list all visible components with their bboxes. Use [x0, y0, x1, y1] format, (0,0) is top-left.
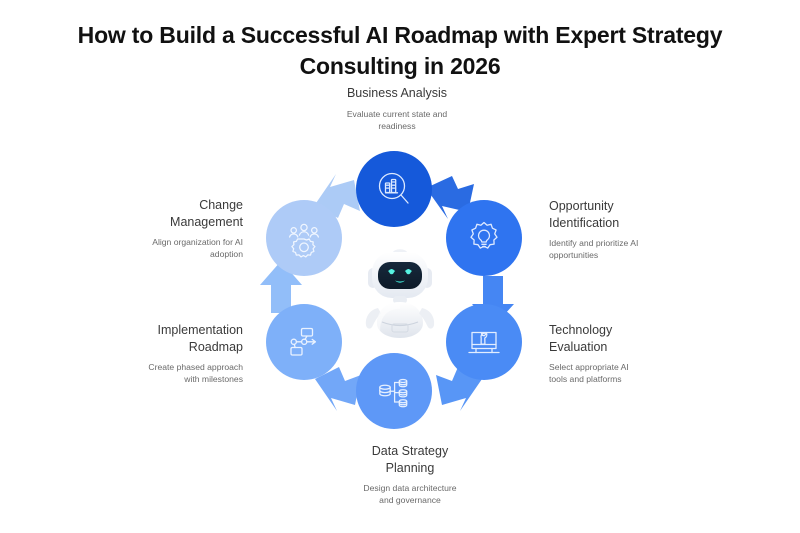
- node-business-analysis[interactable]: [356, 151, 432, 227]
- label-title: Business Analysis: [307, 85, 487, 102]
- flowchart-nodes-icon: [284, 322, 324, 362]
- label-business-analysis: Business Analysis Evaluate current state…: [307, 85, 487, 132]
- node-opportunity-identification[interactable]: [446, 200, 522, 276]
- label-desc: Identify and prioritize AI opportunities: [549, 237, 729, 261]
- label-implementation-roadmap: Implementation Roadmap Create phased app…: [75, 322, 243, 385]
- label-desc: Select appropriate AI tools and platform…: [549, 361, 729, 385]
- node-implementation-roadmap[interactable]: [266, 304, 342, 380]
- label-title: Change Management: [75, 197, 243, 230]
- people-gear-icon: [284, 218, 324, 258]
- label-desc: Create phased approach with milestones: [75, 361, 243, 385]
- infographic-page: How to Build a Successful AI Roadmap wit…: [0, 0, 800, 533]
- label-desc: Align organization for AI adoption: [75, 236, 243, 260]
- lightbulb-gear-icon: [464, 218, 504, 258]
- label-data-strategy-planning: Data Strategy Planning Design data archi…: [320, 443, 500, 506]
- database-network-icon: [374, 371, 414, 411]
- node-change-management[interactable]: [266, 200, 342, 276]
- label-opportunity-identification: Opportunity Identification Identify and …: [549, 198, 729, 261]
- bar-chart-magnifier-icon: [374, 169, 414, 209]
- laptop-wrench-icon: [464, 322, 504, 362]
- label-change-management: Change Management Align organization for…: [75, 197, 243, 260]
- node-data-strategy-planning[interactable]: [356, 353, 432, 429]
- node-technology-evaluation[interactable]: [446, 304, 522, 380]
- label-title: Technology Evaluation: [549, 322, 729, 355]
- cycle-diagram: Business Analysis Evaluate current state…: [0, 0, 800, 533]
- ai-robot-mascot: [352, 240, 448, 340]
- label-desc: Evaluate current state and readiness: [307, 108, 487, 132]
- label-title: Opportunity Identification: [549, 198, 729, 231]
- label-desc: Design data architecture and governance: [320, 482, 500, 506]
- label-title: Data Strategy Planning: [320, 443, 500, 476]
- label-technology-evaluation: Technology Evaluation Select appropriate…: [549, 322, 729, 385]
- label-title: Implementation Roadmap: [75, 322, 243, 355]
